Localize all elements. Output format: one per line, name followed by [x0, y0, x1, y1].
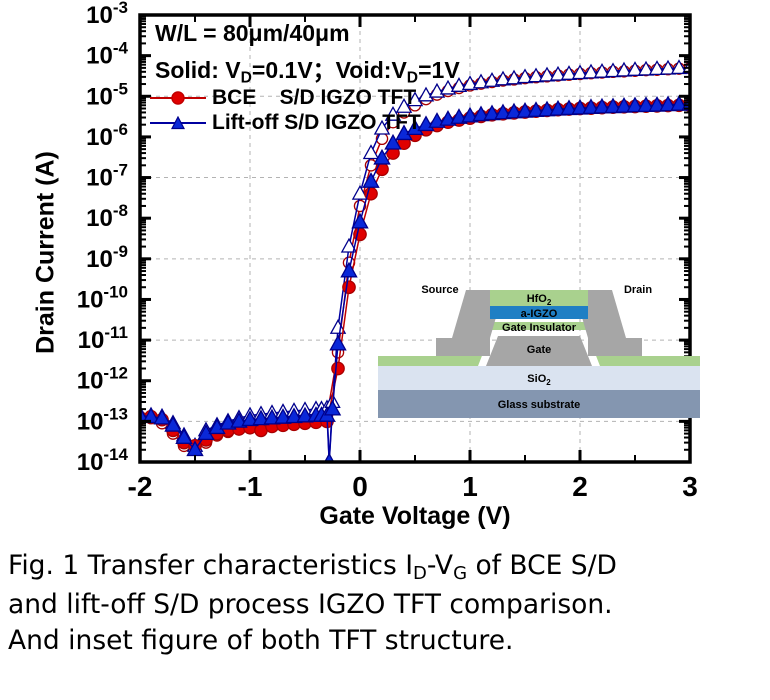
- figure-root: 10-310-410-510-610-710-810-910-1010-1110…: [0, 0, 770, 700]
- caption-line-3: And inset figure of both TFT structure.: [8, 623, 764, 659]
- inset-label-gate: Gate: [527, 344, 551, 356]
- y-tick-label: 10-6: [86, 120, 128, 151]
- y-tick-label: 10-9: [86, 242, 128, 273]
- inset-label-glass: Glass substrate: [498, 399, 581, 411]
- legend-marker-liftoff: [150, 113, 206, 133]
- y-tick-label: 10-14: [77, 445, 129, 476]
- x-tick-label: -1: [238, 471, 263, 502]
- y-axis-title: Drain Current (A): [32, 103, 61, 403]
- chart-legend: BCE S/D IGZO TFT Lift-off S/D IGZO TFT: [150, 85, 421, 135]
- y-tick-label: 10-8: [86, 201, 128, 232]
- y-tick-label: 10-5: [86, 79, 128, 110]
- x-tick-label: 0: [352, 471, 368, 502]
- y-tick-label: 10-4: [86, 39, 128, 70]
- caption-line-1: Fig. 1 Transfer characteristics ID-VG of…: [8, 548, 764, 587]
- y-tick-label: 10-10: [77, 282, 128, 313]
- inset-label-gate-insulator: Gate Insulator: [502, 322, 577, 334]
- y-tick-label: 10-12: [77, 364, 128, 395]
- y-tick-label: 10-13: [77, 404, 128, 435]
- legend-marker-bce: [150, 88, 206, 108]
- inset-tft-structure: Source Drain HfO2 a-IGZO Gate Insulator …: [378, 280, 700, 418]
- legend-liftoff: Lift-off S/D IGZO TFT: [150, 110, 421, 135]
- inset-label-drain: Drain: [624, 284, 652, 296]
- x-axis-title: Gate Voltage (V): [140, 502, 690, 531]
- x-tick-label: 2: [572, 471, 588, 502]
- annotation-width-length: W/L = 80μm/40μm: [155, 20, 350, 47]
- electrode-drain: [574, 290, 678, 356]
- legend-bce: BCE S/D IGZO TFT: [150, 85, 421, 110]
- y-tick-labels: 10-310-410-510-610-710-810-910-1010-1110…: [77, 0, 129, 476]
- x-tick-label: 3: [682, 471, 698, 502]
- electrode-source: [400, 290, 504, 356]
- y-tick-label: 10-11: [78, 323, 128, 354]
- legend-label-bce: BCE S/D IGZO TFT: [212, 86, 416, 110]
- caption-line-2: and lift-off S/D process IGZO TFT compar…: [8, 587, 764, 623]
- y-tick-label: 10-7: [86, 161, 128, 192]
- chart-plot-area: 10-310-410-510-610-710-810-910-1010-1110…: [0, 0, 770, 535]
- inset-label-source: Source: [421, 284, 458, 296]
- legend-label-liftoff: Lift-off S/D IGZO TFT: [212, 111, 421, 135]
- inset-label-igzo: a-IGZO: [521, 308, 558, 320]
- figure-caption: Fig. 1 Transfer characteristics ID-VG of…: [8, 548, 764, 659]
- y-tick-label: 10-3: [86, 0, 128, 29]
- x-tick-label: -2: [128, 471, 153, 502]
- annotation-drain-voltage: Solid: VD=0.1V；Void:VD=1V: [155, 51, 460, 87]
- tft-cross-section-diagram: Source Drain HfO2 a-IGZO Gate Insulator …: [378, 280, 700, 418]
- x-tick-labels: -2-10123: [128, 471, 698, 502]
- x-tick-label: 1: [462, 471, 478, 502]
